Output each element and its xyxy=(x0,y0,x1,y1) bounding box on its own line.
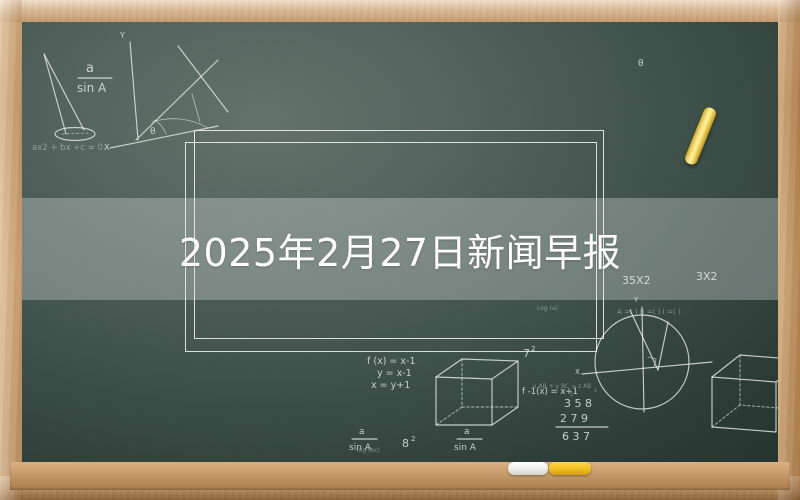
svg-text:3 5 8: 3 5 8 xyxy=(564,397,592,410)
svg-text:2 7 9: 2 7 9 xyxy=(560,412,588,425)
law-of-sines-denominator-1: sin A xyxy=(77,81,107,95)
function-line-3-text: x = y+1 xyxy=(371,380,410,391)
vertical-addition: 3 5 8 2 7 9 6 3 7 1 1 xyxy=(556,388,608,443)
blackboard: a sin A ax2 + bx +c = 0 Y X θ xyxy=(22,22,778,462)
chalk-ledge xyxy=(10,462,790,490)
svg-text:6 3 7: 6 3 7 xyxy=(562,430,590,443)
ledge-chalk-white xyxy=(508,462,548,475)
title-band: 2025年2月27日新闻早报 xyxy=(22,198,778,300)
law-of-sines-denominator-3: sin A xyxy=(454,443,477,453)
matrix-set-text: A =( ) B =( ) I =( ) xyxy=(617,308,681,316)
law-of-sines-numerator-3: a xyxy=(464,427,470,437)
top-right-angle-label: θ xyxy=(638,59,644,69)
function-line-1-text: f (x) = x-1 xyxy=(367,356,416,367)
cube-figure-center xyxy=(436,359,518,425)
law-of-sines-numerator-1: a xyxy=(86,61,94,76)
cube-figure-right xyxy=(712,355,778,432)
axis-label-x-top: X xyxy=(104,143,110,152)
exponent-eight-base: 8 xyxy=(402,437,409,450)
circle-axis-label-x: X xyxy=(575,368,580,376)
svg-text:1: 1 xyxy=(570,392,573,398)
quadratic-equation-text: ax2 + bx +c = 0 xyxy=(32,143,103,153)
law-of-sines-numerator-2: a xyxy=(359,427,365,437)
chalkboard-banner-screenshot: a sin A ax2 + bx +c = 0 Y X θ xyxy=(0,0,800,500)
angle-theta-label: θ xyxy=(150,127,156,137)
axis-label-y-top: Y xyxy=(119,31,125,40)
page-title: 2025年2月27日新闻早报 xyxy=(179,222,621,277)
function-line-2-text: y = x-1 xyxy=(377,368,412,379)
svg-text:1: 1 xyxy=(594,388,597,394)
ledge-chalk-yellow xyxy=(549,462,591,475)
log-label-2-text: log (bc) xyxy=(357,447,380,454)
exponent-eight-power: 2 xyxy=(411,435,415,443)
